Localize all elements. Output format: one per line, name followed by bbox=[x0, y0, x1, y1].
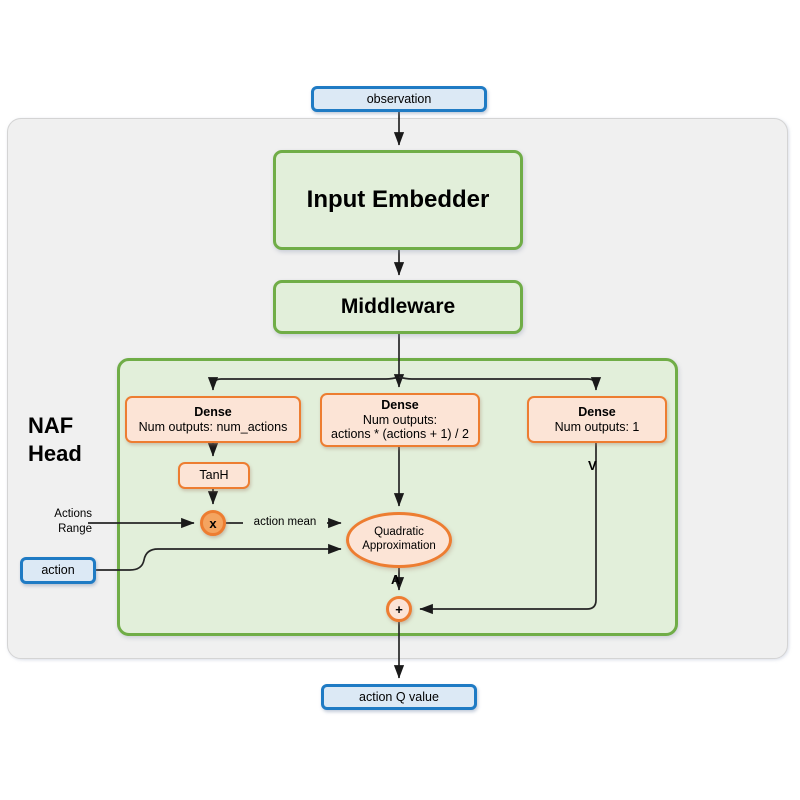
input-embedder-node[interactable]: Input Embedder bbox=[273, 150, 523, 250]
wire-action-to-quad bbox=[96, 549, 341, 570]
action-mean-label: action mean bbox=[243, 516, 327, 528]
dense-num-actions-node[interactable]: Dense Num outputs: num_actions bbox=[125, 396, 301, 443]
dense-right-title: Dense bbox=[578, 405, 616, 419]
multiply-symbol: x bbox=[209, 516, 216, 531]
actions-range-line2: Range bbox=[22, 522, 92, 537]
wire-fanout-right bbox=[399, 377, 596, 390]
middleware-label: Middleware bbox=[341, 295, 455, 320]
add-operator-node[interactable]: + bbox=[386, 596, 412, 622]
tanh-node[interactable]: TanH bbox=[178, 462, 250, 489]
diagram-canvas: observation Input Embedder Middleware NA… bbox=[0, 0, 800, 800]
quad-line1: Quadratic bbox=[374, 526, 424, 538]
action-label: action bbox=[41, 563, 74, 578]
input-embedder-label: Input Embedder bbox=[307, 186, 490, 214]
observation-label: observation bbox=[367, 92, 432, 107]
quad-line2: Approximation bbox=[362, 540, 436, 552]
dense-mid-line2: Num outputs: bbox=[363, 413, 437, 427]
dense-mid-text: Dense Num outputs: actions * (actions + … bbox=[331, 398, 469, 442]
action-q-value-label: action Q value bbox=[359, 690, 439, 705]
naf-head-title: NAF Head bbox=[28, 412, 120, 467]
wire-fanout-left bbox=[213, 377, 399, 390]
action-q-value-node[interactable]: action Q value bbox=[321, 684, 477, 710]
dense-value-node[interactable]: Dense Num outputs: 1 bbox=[527, 396, 667, 443]
a-edge-label: A bbox=[391, 572, 400, 587]
v-edge-label: V bbox=[588, 458, 597, 473]
middleware-node[interactable]: Middleware bbox=[273, 280, 523, 334]
tanh-label: TanH bbox=[199, 468, 228, 483]
wire-dense-right-to-add bbox=[420, 443, 596, 609]
action-input-node[interactable]: action bbox=[20, 557, 96, 584]
naf-head-title-line1: NAF bbox=[28, 412, 120, 440]
quadratic-approximation-text: Quadratic Approximation bbox=[362, 526, 436, 554]
add-symbol: + bbox=[395, 602, 403, 617]
actions-range-label: Actions Range bbox=[22, 507, 92, 537]
quadratic-approximation-node[interactable]: Quadratic Approximation bbox=[346, 512, 452, 568]
dense-mid-line3: actions * (actions + 1) / 2 bbox=[331, 427, 469, 441]
actions-range-line1: Actions bbox=[22, 507, 92, 522]
dense-covariance-node[interactable]: Dense Num outputs: actions * (actions + … bbox=[320, 393, 480, 447]
dense-right-text: Dense Num outputs: 1 bbox=[555, 405, 640, 435]
dense-left-text: Dense Num outputs: num_actions bbox=[139, 405, 288, 435]
dense-left-line2: Num outputs: num_actions bbox=[139, 420, 288, 434]
observation-node[interactable]: observation bbox=[311, 86, 487, 112]
naf-head-title-line2: Head bbox=[28, 440, 120, 468]
dense-left-title: Dense bbox=[194, 405, 232, 419]
dense-right-line2: Num outputs: 1 bbox=[555, 420, 640, 434]
multiply-operator-node[interactable]: x bbox=[200, 510, 226, 536]
dense-mid-title: Dense bbox=[381, 398, 419, 412]
